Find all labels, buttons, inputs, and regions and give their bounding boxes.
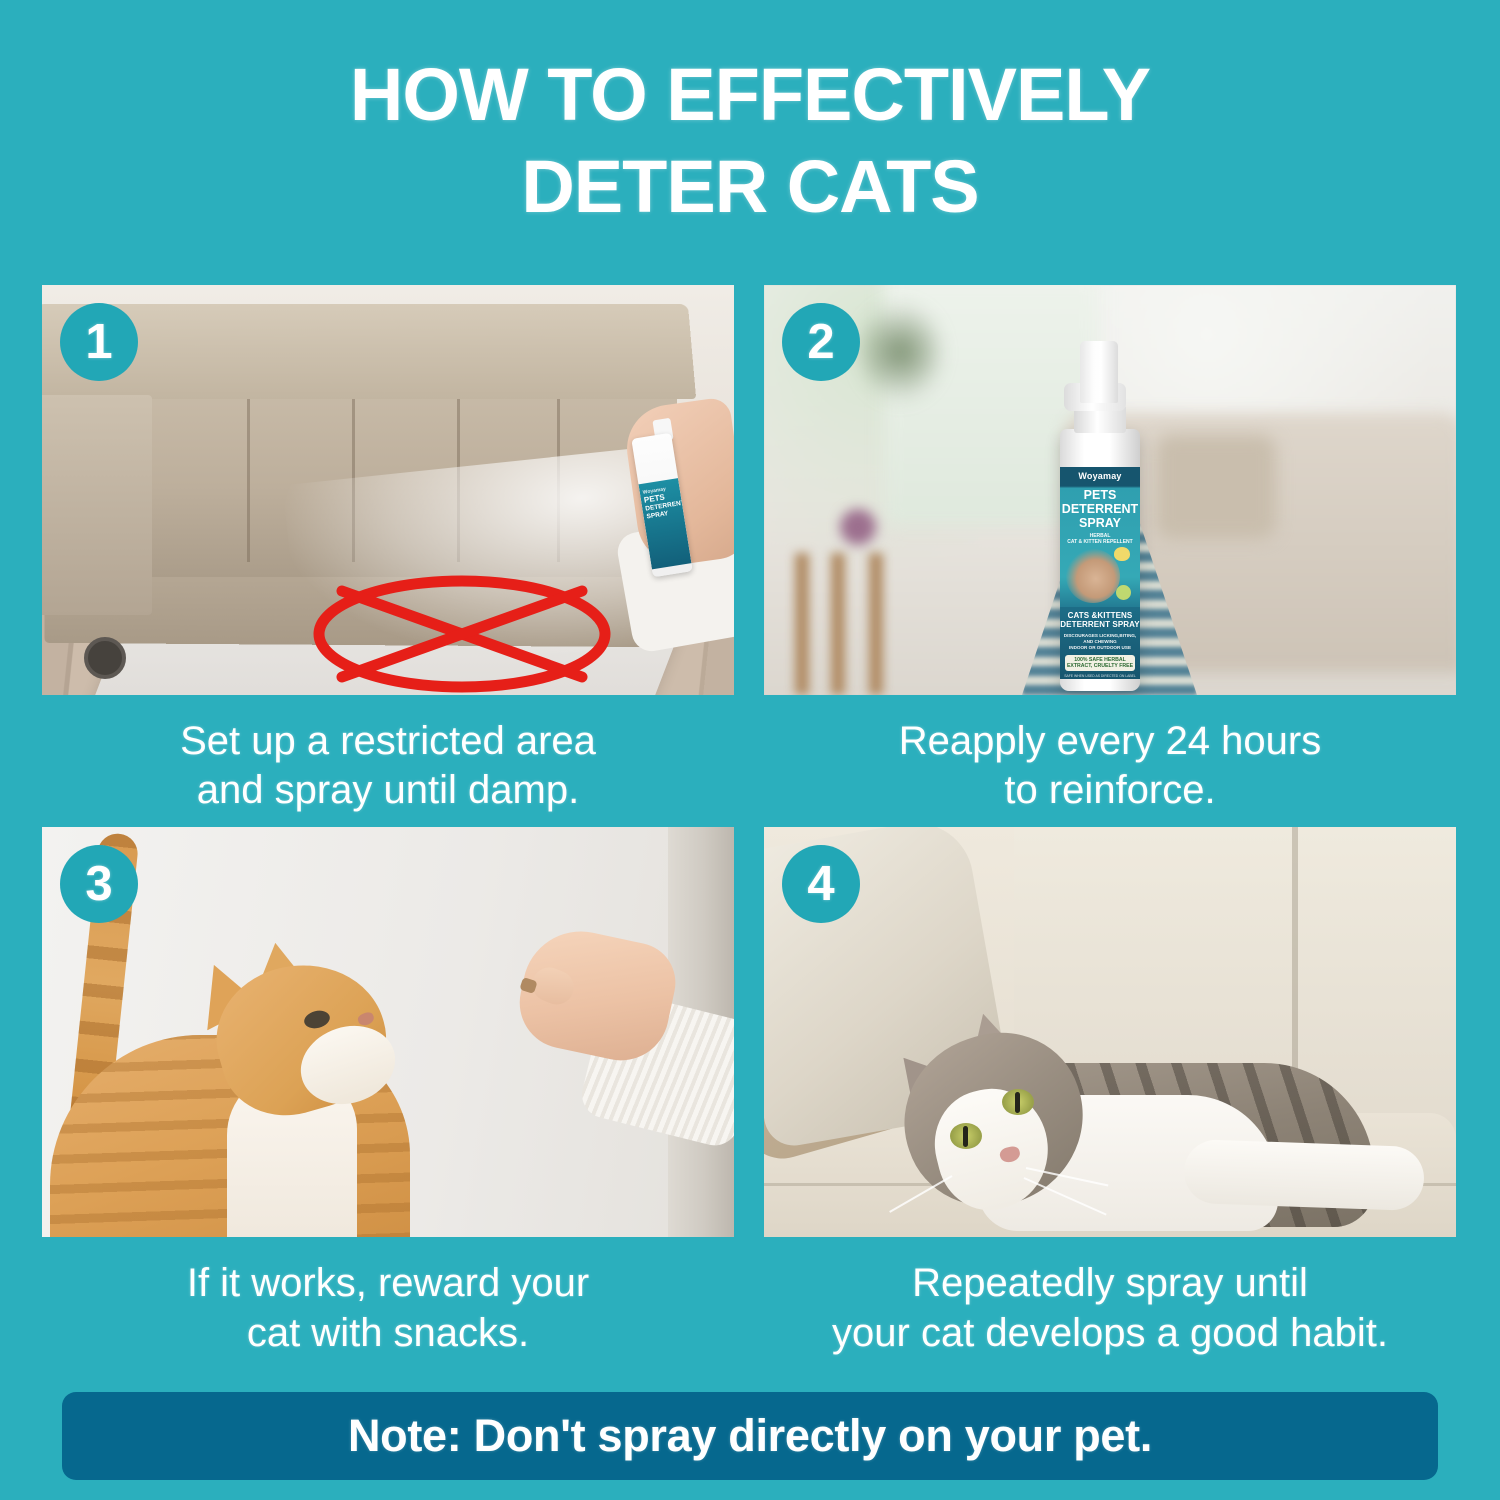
label-brand: Woyamay: [1060, 467, 1140, 481]
step-1-photo: Woyamay PETS DETERRENT SPRAY 1: [42, 285, 734, 695]
step-3-caption: If it works, reward your cat with snacks…: [42, 1237, 734, 1357]
step-card-1: Woyamay PETS DETERRENT SPRAY 1 Set up a …: [42, 285, 734, 815]
step-2-caption-line-2: to reinforce.: [764, 766, 1456, 815]
step-3-caption-line-1: If it works, reward your: [42, 1259, 734, 1308]
sofa-cushion-top: [42, 304, 696, 399]
step-card-2: Woyamay PETS DETERRENT SPRAY HERBAL CAT …: [764, 285, 1456, 815]
label-title-line-3: SPRAY: [1060, 516, 1140, 530]
product-bottle: Woyamay PETS DETERRENT SPRAY HERBAL CAT …: [1056, 341, 1144, 691]
label-band-line-2: DETERRENT SPRAY: [1060, 620, 1140, 629]
lemon-icon: [1114, 547, 1130, 561]
safety-seal-icon: [1116, 585, 1131, 600]
step-card-3: 3 If it works, reward your cat with snac…: [42, 827, 734, 1357]
label-band-line-1: CATS &KITTENS: [1060, 611, 1140, 620]
label-bottom-band: CATS &KITTENS DETERRENT SPRAY DISCOURAGE…: [1060, 607, 1140, 679]
note-text: Note: Don't spray directly on your pet.: [348, 1410, 1152, 1462]
label-fine-print: SAFE WHEN USED AS DIRECTED ON LABEL: [1060, 671, 1140, 678]
step-1-caption: Set up a restricted area and spray until…: [42, 695, 734, 815]
label-pill-line-2: EXTRACT, CRUELTY FREE: [1066, 663, 1134, 669]
label-subtitle-line-1: HERBAL: [1060, 530, 1140, 539]
toy-ball-blur: [840, 509, 876, 545]
step-1-caption-line-1: Set up a restricted area: [42, 717, 734, 766]
title-line-1: HOW TO EFFECTIVELY: [350, 53, 1150, 136]
title-line-2: DETER CATS: [90, 150, 1410, 224]
steps-grid: Woyamay PETS DETERRENT SPRAY 1 Set up a …: [42, 285, 1462, 1358]
step-badge-4: 4: [782, 845, 860, 923]
no-entry-x-icon: [312, 575, 612, 693]
bottle-cap: [1080, 341, 1118, 403]
step-4-caption-line-1: Repeatedly spray until: [764, 1259, 1456, 1308]
bottle-label: Woyamay PETS DETERRENT SPRAY HERBAL CAT …: [1060, 467, 1140, 679]
cat-front-legs: [1183, 1139, 1425, 1211]
step-3-photo: 3: [42, 827, 734, 1237]
label-pill-line-1: 100% SAFE HERBAL: [1066, 657, 1134, 663]
cat-tree-legs-blur: [786, 553, 910, 695]
label-title-line-2: DETERRENT: [1060, 502, 1140, 516]
sofa-left-panel: [42, 395, 152, 615]
step-badge-3: 3: [60, 845, 138, 923]
label-net-contents: NET 6.76FL OZ(200ML): [1060, 678, 1140, 679]
couch-pillow-blur: [1156, 435, 1276, 539]
step-1-caption-line-2: and spray until damp.: [42, 766, 734, 815]
plant-blur: [860, 303, 940, 401]
label-title-line-1: PETS: [1060, 481, 1140, 502]
step-badge-1: 1: [60, 303, 138, 381]
label-cat-illustration: [1066, 549, 1120, 603]
step-4-caption: Repeatedly spray until your cat develops…: [764, 1237, 1456, 1357]
step-2-caption: Reapply every 24 hours to reinforce.: [764, 695, 1456, 815]
step-2-caption-line-1: Reapply every 24 hours: [764, 717, 1456, 766]
note-bar: Note: Don't spray directly on your pet.: [62, 1392, 1438, 1480]
label-benefit-line-3: INDOOR OR OUTDOOR USE: [1060, 645, 1140, 651]
step-badge-2: 2: [782, 303, 860, 381]
header: HOW TO EFFECTIVELY DETER CATS: [0, 0, 1500, 224]
label-safety-pill: 100% SAFE HERBAL EXTRACT, CRUELTY FREE: [1065, 655, 1135, 671]
step-4-caption-line-2: your cat develops a good habit.: [764, 1309, 1456, 1358]
label-benefit-line-1: DISCOURAGES LICKING,BITING,: [1060, 629, 1140, 639]
step-2-photo: Woyamay PETS DETERRENT SPRAY HERBAL CAT …: [764, 285, 1456, 695]
label-subtitle-line-2: CAT & KITTEN REPELLENT: [1060, 539, 1140, 545]
step-4-photo: 4: [764, 827, 1456, 1237]
step-3-caption-line-2: cat with snacks.: [42, 1309, 734, 1358]
sofa-caster-wheel: [84, 637, 126, 679]
page-title: HOW TO EFFECTIVELY DETER CATS: [0, 58, 1500, 224]
step-card-4: 4 Repeatedly spray until your cat develo…: [764, 827, 1456, 1357]
